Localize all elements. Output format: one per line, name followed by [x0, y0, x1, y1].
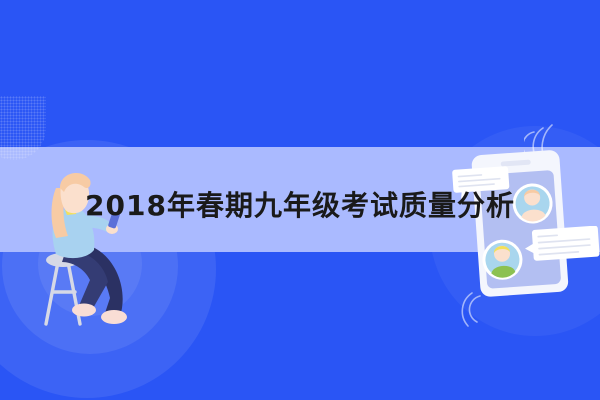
banner-image: 2018年春期九年级考试质量分析 — [0, 0, 600, 400]
chat-bubble-right — [524, 226, 600, 268]
banner-title: 2018年春期九年级考试质量分析 — [0, 186, 600, 226]
seated-woman-illustration — [34, 158, 154, 328]
